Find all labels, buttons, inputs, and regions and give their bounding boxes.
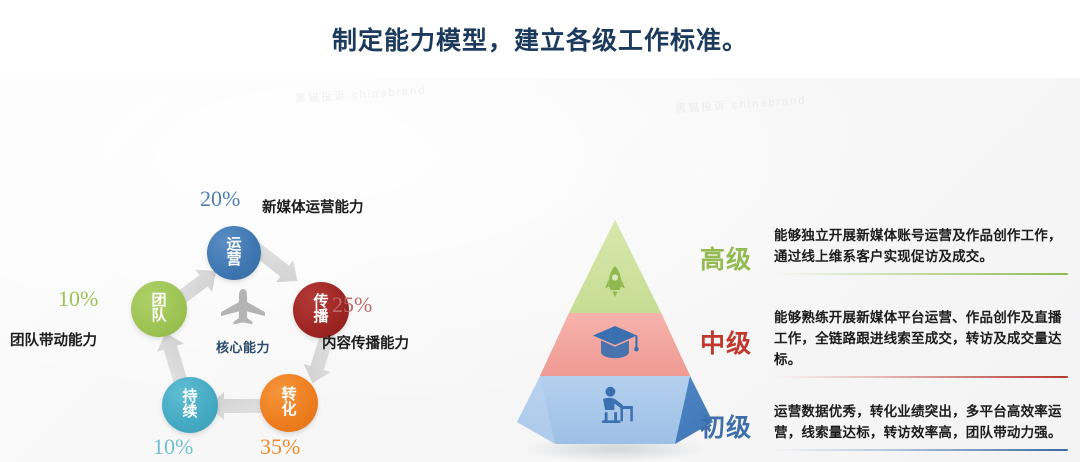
level-body-junior: 运营数据优秀，转化业绩突出，多平台高效率运营，线索量达标，转访效率高，团队带动力… <box>766 402 1068 451</box>
percent-yunying: 20% <box>200 186 240 212</box>
node-label-line-2: 续 <box>182 405 197 420</box>
content-card: 黑猫投诉 chinabrand 黑猫投诉 chinabrand 黑猫投诉 <box>0 78 1080 462</box>
percent-chixu: 10% <box>153 434 193 460</box>
level-body-senior: 能够独立开展新媒体账号运营及作品创作工作，通过线上维系客户实现促访及成交。 <box>766 226 1068 275</box>
pyramid-level-senior[interactable] <box>569 220 661 313</box>
pyramid-level-junior[interactable] <box>517 376 713 444</box>
airplane-icon <box>220 288 266 328</box>
slide-root: 制定能力模型，建立各级工作标准。 黑猫投诉 chinabrand 黑猫投诉 ch… <box>0 0 1080 462</box>
node-label-line-1: 运 <box>226 238 241 253</box>
pentagon-node-tuandui[interactable]: 团 队 <box>131 281 187 337</box>
node-label-line-2: 营 <box>226 253 241 268</box>
pentagon-center: 核心能力 <box>188 288 298 356</box>
percent-tuandui: 10% <box>58 286 98 312</box>
level-name-junior: 初级 <box>700 402 766 444</box>
pentagon-node-yunying[interactable]: 运 营 <box>207 226 261 280</box>
title-bar: 制定能力模型，建立各级工作标准。 <box>0 0 1080 78</box>
pentagon-node-zhuanhua[interactable]: 转 化 <box>260 374 318 432</box>
caption-yunying: 新媒体运营能力 <box>262 196 364 217</box>
node-label-line-1: 团 <box>151 294 166 309</box>
watermark-2: 黑猫投诉 chinabrand <box>675 91 807 116</box>
percent-chuanbo: 25% <box>332 292 372 318</box>
node-label-line-2: 队 <box>151 309 166 324</box>
node-label-line-2: 播 <box>313 310 328 325</box>
level-row-junior[interactable]: 初级 运营数据优秀，转化业绩突出，多平台高效率运营，线索量达标，转访效率高，团队… <box>700 402 1068 451</box>
level-descriptions: 高级 能够独立开展新媒体账号运营及作品创作工作，通过线上维系客户实现促访及成交。… <box>700 226 1068 462</box>
caption-chuanbo: 内容传播能力 <box>322 332 409 353</box>
level-rule-mid <box>774 376 1068 379</box>
core-capability-label: 核心能力 <box>188 337 298 356</box>
level-desc-junior: 运营数据优秀，转化业绩突出，多平台高效率运营，线索量达标，转访效率高，团队带动力… <box>774 402 1068 444</box>
page-title: 制定能力模型，建立各级工作标准。 <box>332 21 748 57</box>
level-body-mid: 能够熟练开展新媒体平台运营、作品创作及直播工作，全链路跟进线索至成交，转访及成交… <box>766 308 1068 378</box>
level-rule-junior <box>774 449 1068 452</box>
pentagon-node-chixu[interactable]: 持 续 <box>162 377 218 433</box>
level-desc-senior: 能够独立开展新媒体账号运营及作品创作工作，通过线上维系客户实现促访及成交。 <box>774 226 1068 268</box>
node-label-line-1: 转 <box>281 388 296 403</box>
watermark-1: 黑猫投诉 chinabrand <box>295 81 427 106</box>
level-row-mid[interactable]: 中级 能够熟练开展新媒体平台运营、作品创作及直播工作，全链路跟进线索至成交，转访… <box>700 308 1068 378</box>
level-name-senior: 高级 <box>700 226 766 276</box>
node-label-line-1: 持 <box>182 390 197 405</box>
level-desc-mid: 能够熟练开展新媒体平台运营、作品创作及直播工作，全链路跟进线索至成交，转访及成交… <box>774 308 1068 371</box>
level-rule-senior <box>774 273 1068 276</box>
node-label-line-1: 传 <box>313 295 328 310</box>
competency-pentagon-diagram: 运 营 传 播 转 化 持 续 <box>10 174 480 462</box>
caption-tuandui: 团队带动能力 <box>10 329 97 350</box>
node-label-line-2: 化 <box>281 403 296 418</box>
level-name-mid: 中级 <box>700 308 766 360</box>
percent-zhuanhua: 35% <box>260 434 300 460</box>
pyramid-level-mid[interactable] <box>540 313 690 376</box>
level-row-senior[interactable]: 高级 能够独立开展新媒体账号运营及作品创作工作，通过线上维系客户实现促访及成交。 <box>700 226 1068 276</box>
